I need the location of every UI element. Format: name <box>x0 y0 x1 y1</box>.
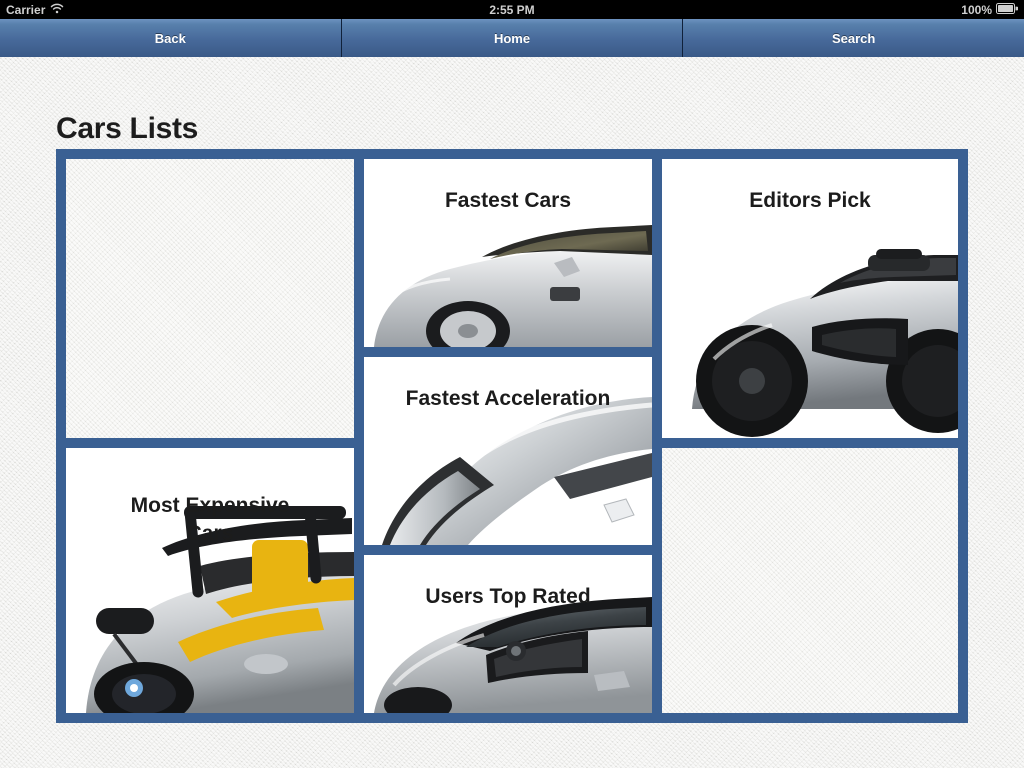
cars-lists-grid: Fastest Cars <box>56 149 968 723</box>
tile-label: Users Top Rated <box>364 555 652 611</box>
navigation-toolbar: Back Home Search <box>0 19 1024 57</box>
tile-editors-pick[interactable]: Editors Pick <box>662 159 958 438</box>
battery-full-icon <box>996 3 1018 17</box>
home-button[interactable]: Home <box>342 19 684 57</box>
battery-percent-label: 100% <box>961 3 992 17</box>
tile-most-expensive-cars[interactable]: Most Expensive Cars <box>66 448 354 713</box>
tile-label: Fastest Acceleration <box>364 357 652 413</box>
tile-fastest-cars[interactable]: Fastest Cars <box>364 159 652 347</box>
tile-label: Editors Pick <box>662 159 958 215</box>
search-button[interactable]: Search <box>683 19 1024 57</box>
status-bar-right: 100% <box>961 3 1018 17</box>
back-button[interactable]: Back <box>0 19 342 57</box>
status-bar: Carrier 2:55 PM 100% <box>0 0 1024 19</box>
tile-label: Fastest Cars <box>364 159 652 215</box>
tile-empty-top-left[interactable] <box>66 159 354 438</box>
tile-label: Most Expensive Cars <box>95 448 325 549</box>
status-bar-clock: 2:55 PM <box>0 3 1024 17</box>
tile-users-top-rated[interactable]: Users Top Rated <box>364 555 652 713</box>
tile-fastest-acceleration[interactable]: Fastest Acceleration <box>364 357 652 545</box>
page-title: Cars Lists <box>56 112 198 146</box>
grid-inner: Fastest Cars <box>66 159 958 713</box>
tile-empty-bottom-right[interactable] <box>662 448 958 713</box>
